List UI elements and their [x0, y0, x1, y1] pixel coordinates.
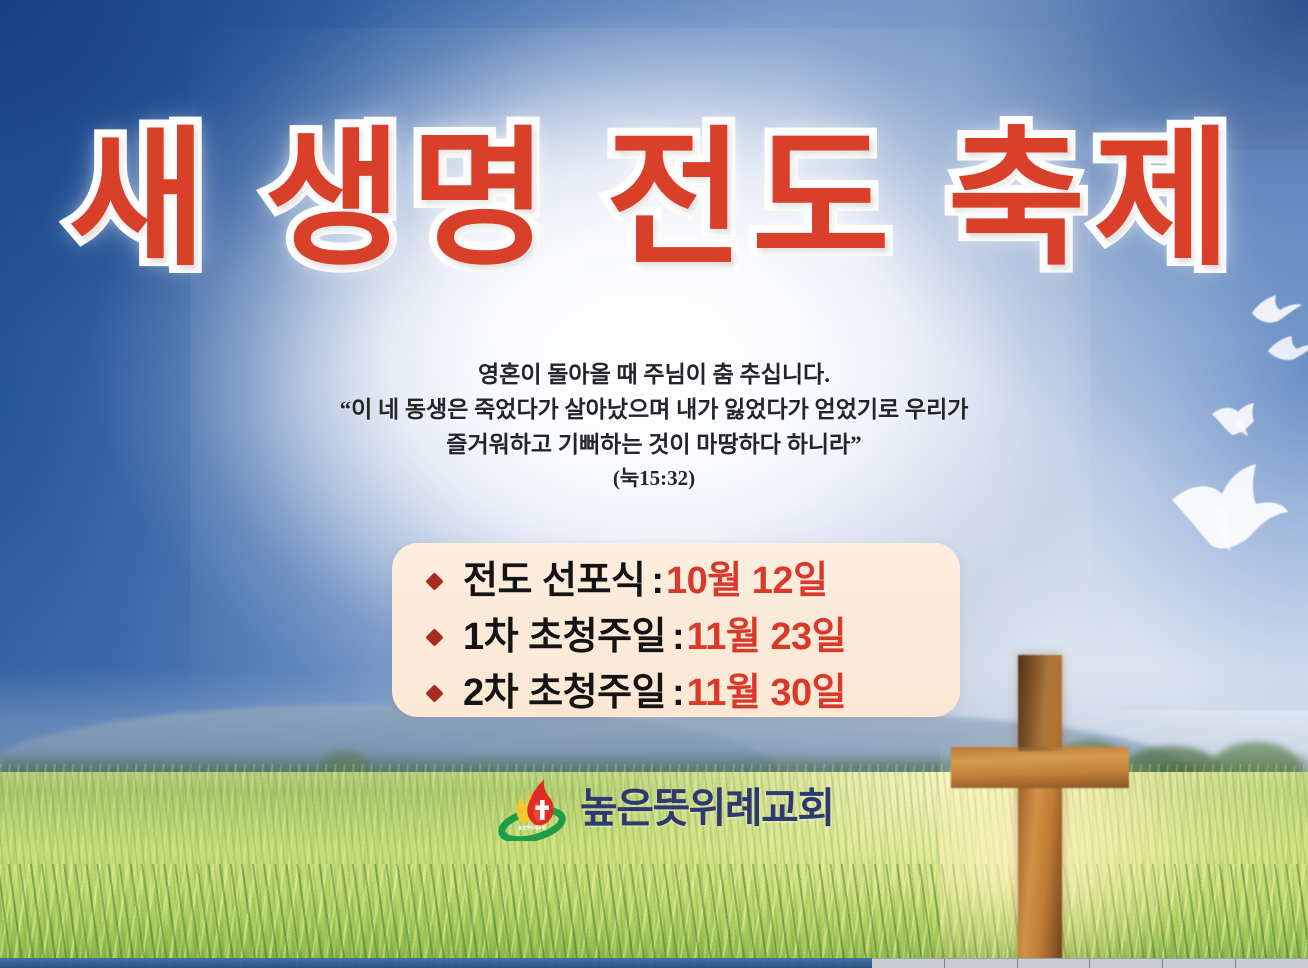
schedule-date: 10월 12일 [666, 562, 828, 600]
schedule-separator: : [651, 562, 664, 600]
schedule-label: 전도 선포식 [463, 562, 645, 600]
diamond-bullet-icon [425, 628, 443, 646]
horizontal-scrollbar[interactable] [872, 958, 1308, 968]
schedule-date: 11월 23일 [687, 618, 846, 656]
scrollbar-segment[interactable] [872, 959, 945, 968]
scrollbar-segment[interactable] [1163, 959, 1236, 968]
cross-top-shadow [1018, 655, 1062, 751]
schedule-date: 11월 30일 [687, 674, 846, 712]
scrollbar-segment[interactable] [1090, 959, 1163, 968]
scripture-line-2: “이 네 동생은 죽었다가 살아났으며 내가 잃었다가 얻었기로 우리가 [0, 393, 1308, 428]
scripture-block: 영혼이 돌아올 때 주님이 춤 추십니다. “이 네 동생은 죽었다가 살아났으… [0, 358, 1308, 495]
schedule-label: 1차 초청주일 [463, 618, 666, 656]
church-logo: 높은뜻위례교회 높은뜻위례교회 [498, 775, 834, 841]
schedule-row: 1차 초청주일 : 11월 23일 [392, 613, 960, 661]
diamond-bullet-icon [425, 572, 443, 590]
strip-background [0, 958, 872, 968]
diamond-bullet-icon [425, 684, 443, 702]
scrollbar-segment[interactable] [1018, 959, 1091, 968]
logo-emblem-caption: 높은뜻위례교회 [519, 824, 546, 831]
schedule-separator: : [672, 618, 685, 656]
schedule-box: 전도 선포식 : 10월 12일 1차 초청주일 : 11월 23일 2차 초청… [392, 543, 960, 717]
schedule-separator: : [672, 674, 685, 712]
page-title: 새 생명 전도 축제 [0, 124, 1308, 274]
scrollbar-segment[interactable] [1236, 959, 1308, 968]
scrollbar-segment[interactable] [945, 959, 1018, 968]
dove-icon [1246, 289, 1304, 329]
schedule-row: 전도 선포식 : 10월 12일 [392, 557, 960, 605]
bottom-ui-strip [0, 958, 1308, 968]
schedule-label: 2차 초청주일 [463, 674, 666, 712]
scripture-line-3: 즐거워하고 기뻐하는 것이 마땅하다 하니라” [0, 428, 1308, 463]
flame-cross-logo-icon: 높은뜻위례교회 [498, 775, 566, 841]
scripture-reference: (눅15:32) [0, 463, 1308, 495]
schedule-row: 2차 초청주일 : 11월 30일 [392, 669, 960, 717]
church-name: 높은뜻위례교회 [580, 788, 834, 829]
cross-horizontal-beam [951, 747, 1129, 788]
poster-canvas: 새 생명 전도 축제 영혼이 돌아올 때 주님이 춤 추십니다. “이 네 동생… [0, 0, 1308, 968]
scripture-line-1: 영혼이 돌아올 때 주님이 춤 추십니다. [0, 358, 1308, 393]
grass-blades-foreground [0, 864, 1308, 968]
